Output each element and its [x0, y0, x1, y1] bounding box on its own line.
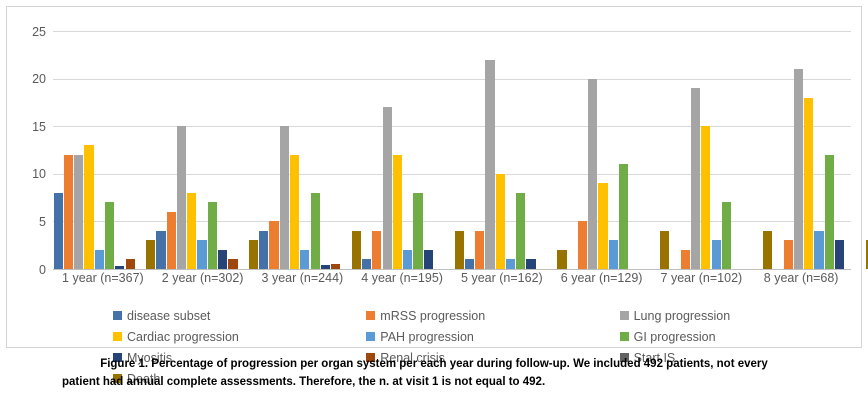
legend-label: disease subset	[127, 309, 210, 323]
bar-slot	[701, 31, 710, 269]
bar[interactable]	[74, 155, 83, 269]
bar[interactable]	[259, 231, 268, 269]
bar[interactable]	[516, 193, 525, 269]
bar-slot	[609, 31, 618, 269]
bar[interactable]	[228, 259, 237, 269]
bar[interactable]	[557, 250, 566, 269]
y-axis-tick-label: 0	[39, 263, 46, 277]
bar-slot	[516, 31, 525, 269]
bar[interactable]	[660, 231, 669, 269]
legend-item[interactable]: disease subset	[67, 305, 320, 326]
bar-slot	[753, 31, 762, 269]
bar-slot	[434, 31, 443, 269]
gridline-0: 0	[53, 269, 851, 270]
bar-slot	[290, 31, 299, 269]
bar[interactable]	[331, 264, 340, 269]
bar-slot	[629, 31, 638, 269]
bar-slot	[105, 31, 114, 269]
bar[interactable]	[311, 193, 320, 269]
bar[interactable]	[208, 202, 217, 269]
bar-slot	[300, 31, 309, 269]
bar[interactable]	[126, 259, 135, 269]
bar-slot	[526, 31, 535, 269]
bar[interactable]	[280, 126, 289, 269]
legend-item[interactable]: mRSS progression	[320, 305, 573, 326]
bar[interactable]	[465, 259, 474, 269]
x-axis-tick-label: 5 year (n=162)	[452, 271, 552, 285]
bar-slot	[547, 31, 556, 269]
legend-item[interactable]: Lung progression	[574, 305, 827, 326]
bar-slot	[187, 31, 196, 269]
bar-slot	[670, 31, 679, 269]
bar-slot	[455, 31, 464, 269]
bar[interactable]	[722, 202, 731, 269]
legend-swatch-icon	[113, 311, 122, 320]
bar-slot	[228, 31, 237, 269]
bar-slot	[496, 31, 505, 269]
bar[interactable]	[424, 250, 433, 269]
bar-slot	[855, 31, 864, 269]
bar[interactable]	[701, 126, 710, 269]
bar-slot	[126, 31, 135, 269]
bar[interactable]	[177, 126, 186, 269]
bar[interactable]	[609, 240, 618, 269]
bar-slot	[784, 31, 793, 269]
bar-slot	[362, 31, 371, 269]
y-axis-tick-label: 10	[32, 167, 46, 181]
bar-slot	[835, 31, 844, 269]
bar[interactable]	[814, 231, 823, 269]
chart-frame: 0510152025 1 year (n=367)2 year (n=302)3…	[6, 6, 862, 348]
caption-line-1: Figure 1. Percentage of progression per …	[44, 356, 824, 374]
legend-label: PAH progression	[380, 330, 474, 344]
bar-slot	[557, 31, 566, 269]
bar[interactable]	[475, 231, 484, 269]
bar-slot	[74, 31, 83, 269]
bar[interactable]	[95, 250, 104, 269]
bar[interactable]	[167, 212, 176, 269]
bar-slot	[537, 31, 546, 269]
bar-slot	[475, 31, 484, 269]
bar[interactable]	[413, 193, 422, 269]
bar-slot	[722, 31, 731, 269]
x-axis-tick-label: 3 year (n=244)	[253, 271, 353, 285]
bar[interactable]	[403, 250, 412, 269]
bar-slot	[249, 31, 258, 269]
bar-slot	[444, 31, 453, 269]
bar[interactable]	[496, 174, 505, 269]
bar-groups	[53, 31, 851, 269]
bar-group	[53, 31, 156, 269]
bar-slot	[393, 31, 402, 269]
bar-slot	[156, 31, 165, 269]
bar[interactable]	[197, 240, 206, 269]
bar-slot	[239, 31, 248, 269]
bar-slot	[742, 31, 751, 269]
bar[interactable]	[362, 259, 371, 269]
bar[interactable]	[619, 164, 628, 269]
legend-label: GI progression	[634, 330, 716, 344]
bar[interactable]	[804, 98, 813, 269]
bar-group	[464, 31, 567, 269]
bar[interactable]	[156, 231, 165, 269]
bar-group	[670, 31, 773, 269]
bar-group	[361, 31, 464, 269]
x-axis-tick-label: 1 year (n=367)	[53, 271, 153, 285]
bar[interactable]	[794, 69, 803, 269]
x-axis-tick-label: 6 year (n=129)	[552, 271, 652, 285]
bar[interactable]	[485, 60, 494, 269]
bar-slot	[403, 31, 412, 269]
bar-slot	[650, 31, 659, 269]
bar[interactable]	[825, 155, 834, 269]
bar[interactable]	[393, 155, 402, 269]
bar-slot	[568, 31, 577, 269]
bar-slot	[95, 31, 104, 269]
bar-slot	[598, 31, 607, 269]
bar[interactable]	[115, 266, 124, 269]
bar-slot	[280, 31, 289, 269]
bar-slot	[773, 31, 782, 269]
bar[interactable]	[290, 155, 299, 269]
bar[interactable]	[784, 240, 793, 269]
bar-slot	[177, 31, 186, 269]
bar-group	[156, 31, 259, 269]
x-axis-tick-label: 8 year (n=68)	[751, 271, 851, 285]
bar-slot	[588, 31, 597, 269]
bar-slot	[763, 31, 772, 269]
bar-slot	[681, 31, 690, 269]
legend-item[interactable]: Cardiac progression	[67, 326, 320, 347]
bar-slot	[208, 31, 217, 269]
bar-slot	[84, 31, 93, 269]
bar-slot	[136, 31, 145, 269]
bar-slot	[167, 31, 176, 269]
bar-slot	[259, 31, 268, 269]
bar-slot	[691, 31, 700, 269]
bar-group	[567, 31, 670, 269]
bar-slot	[794, 31, 803, 269]
legend-swatch-icon	[366, 311, 375, 320]
legend-label: Cardiac progression	[127, 330, 239, 344]
bar-slot	[485, 31, 494, 269]
legend-item[interactable]: PAH progression	[320, 326, 573, 347]
bar-slot	[732, 31, 741, 269]
legend-swatch-icon	[113, 332, 122, 341]
bar-slot	[712, 31, 721, 269]
bar-slot	[321, 31, 330, 269]
bar-slot	[814, 31, 823, 269]
bar-slot	[372, 31, 381, 269]
bar-slot	[825, 31, 834, 269]
x-axis-tick-label: 4 year (n=195)	[352, 271, 452, 285]
bar[interactable]	[712, 240, 721, 269]
y-axis-tick-label: 5	[39, 215, 46, 229]
bar[interactable]	[526, 259, 535, 269]
bar[interactable]	[187, 193, 196, 269]
bar[interactable]	[64, 155, 73, 269]
bar[interactable]	[681, 250, 690, 269]
bar[interactable]	[300, 250, 309, 269]
legend-swatch-icon	[366, 332, 375, 341]
caption-line-2: patient had annual complete assessments.…	[44, 374, 824, 392]
bar[interactable]	[691, 88, 700, 269]
bar-slot	[146, 31, 155, 269]
bar-slot	[578, 31, 587, 269]
bar-slot	[218, 31, 227, 269]
bar[interactable]	[146, 240, 155, 269]
bar[interactable]	[383, 107, 392, 269]
figure-container: 0510152025 1 year (n=367)2 year (n=302)3…	[0, 0, 868, 402]
bar-slot	[115, 31, 124, 269]
bar[interactable]	[763, 231, 772, 269]
legend-swatch-icon	[620, 332, 629, 341]
bar[interactable]	[84, 145, 93, 269]
y-axis-tick-label: 20	[32, 72, 46, 86]
bar[interactable]	[835, 240, 844, 269]
plot-area: 0510152025	[53, 31, 851, 269]
bar-slot	[660, 31, 669, 269]
legend-swatch-icon	[620, 311, 629, 320]
x-axis-labels: 1 year (n=367)2 year (n=302)3 year (n=24…	[53, 271, 851, 285]
bar[interactable]	[588, 79, 597, 269]
bar-slot	[54, 31, 63, 269]
bar[interactable]	[578, 221, 587, 269]
bar[interactable]	[54, 193, 63, 269]
bar-slot	[619, 31, 628, 269]
bar-slot	[465, 31, 474, 269]
y-axis-tick-label: 15	[32, 120, 46, 134]
bar[interactable]	[506, 259, 515, 269]
y-axis-tick-label: 25	[32, 25, 46, 39]
bar[interactable]	[218, 250, 227, 269]
bar[interactable]	[249, 240, 258, 269]
bar-slot	[845, 31, 854, 269]
bar-slot	[804, 31, 813, 269]
legend-label: mRSS progression	[380, 309, 485, 323]
bar[interactable]	[105, 202, 114, 269]
bar-slot	[413, 31, 422, 269]
bar[interactable]	[321, 265, 330, 269]
bar-slot	[424, 31, 433, 269]
x-axis-tick-label: 2 year (n=302)	[153, 271, 253, 285]
bar-slot	[269, 31, 278, 269]
bar-group	[259, 31, 362, 269]
bar-slot	[352, 31, 361, 269]
bar[interactable]	[269, 221, 278, 269]
legend-label: Lung progression	[634, 309, 731, 323]
bar-slot	[311, 31, 320, 269]
bar-slot	[331, 31, 340, 269]
x-axis-tick-label: 7 year (n=102)	[652, 271, 752, 285]
bar-slot	[640, 31, 649, 269]
bar-slot	[506, 31, 515, 269]
bar[interactable]	[598, 183, 607, 269]
legend-item[interactable]: GI progression	[574, 326, 827, 347]
bar-group	[773, 31, 868, 269]
bar-slot	[197, 31, 206, 269]
figure-caption: Figure 1. Percentage of progression per …	[6, 352, 862, 392]
bar-slot	[341, 31, 350, 269]
bar[interactable]	[372, 231, 381, 269]
bar-slot	[383, 31, 392, 269]
bar-slot	[64, 31, 73, 269]
bar[interactable]	[455, 231, 464, 269]
bar[interactable]	[352, 231, 361, 269]
